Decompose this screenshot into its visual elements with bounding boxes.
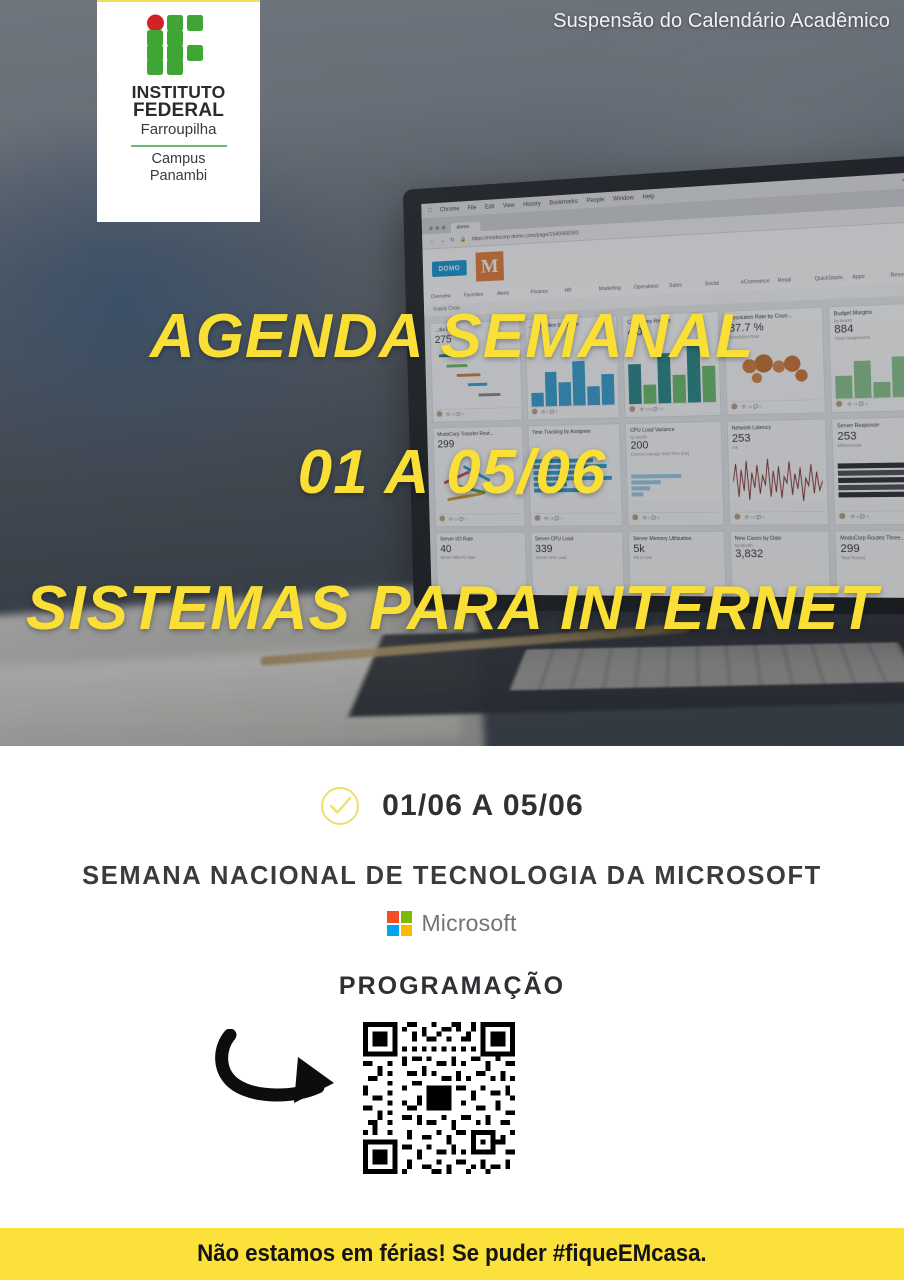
hero-banner:  Chrome File Edit View History Bookmark… — [0, 0, 904, 746]
programacao-label: PROGRAMAÇÃO — [0, 972, 904, 1001]
poster:  Chrome File Edit View History Bookmark… — [0, 0, 904, 1280]
logo-line-instituto: INSTITUTO — [132, 84, 226, 101]
qr-code-icon[interactable] — [358, 1017, 520, 1179]
microsoft-logo: Microsoft — [0, 910, 904, 937]
event-title: SEMANA NACIONAL DE TECNOLOGIA DA MICROSO… — [0, 858, 904, 894]
hero-title-line-1: AGENDA SEMANAL — [0, 306, 904, 368]
footer-banner: Não estamos em férias! Se puder #fiqueEM… — [0, 1228, 904, 1280]
content-section: 01/06 A 05/06 SEMANA NACIONAL DE TECNOLO… — [0, 746, 904, 1228]
instituto-federal-mark-icon — [146, 14, 212, 76]
logo-line-federal: FEDERAL — [133, 101, 224, 120]
suspension-note: Suspensão do Calendário Acadêmico — [553, 10, 890, 33]
logo-line-campus: Campus — [152, 151, 206, 168]
logo-divider — [131, 145, 227, 147]
institution-logo-card: INSTITUTO FEDERAL Farroupilha Campus Pan… — [97, 0, 260, 222]
footer-message: Não estamos em férias! Se puder #fiqueEM… — [197, 1240, 706, 1268]
date-label: 01/06 A 05/06 — [382, 789, 584, 823]
logo-line-panambi: Panambi — [150, 168, 207, 185]
logo-line-farroupilha: Farroupilha — [141, 120, 217, 140]
qr-row — [0, 1007, 904, 1175]
microsoft-wordmark: Microsoft — [421, 910, 516, 937]
check-circle-icon — [320, 786, 360, 826]
hero-title-line-3: SISTEMAS PARA INTERNET — [0, 578, 904, 640]
curved-arrow-right-icon — [214, 1029, 348, 1109]
date-row: 01/06 A 05/06 — [0, 786, 904, 826]
microsoft-squares-icon — [387, 911, 412, 936]
hero-title-line-2: 01 A 05/06 — [0, 442, 904, 504]
